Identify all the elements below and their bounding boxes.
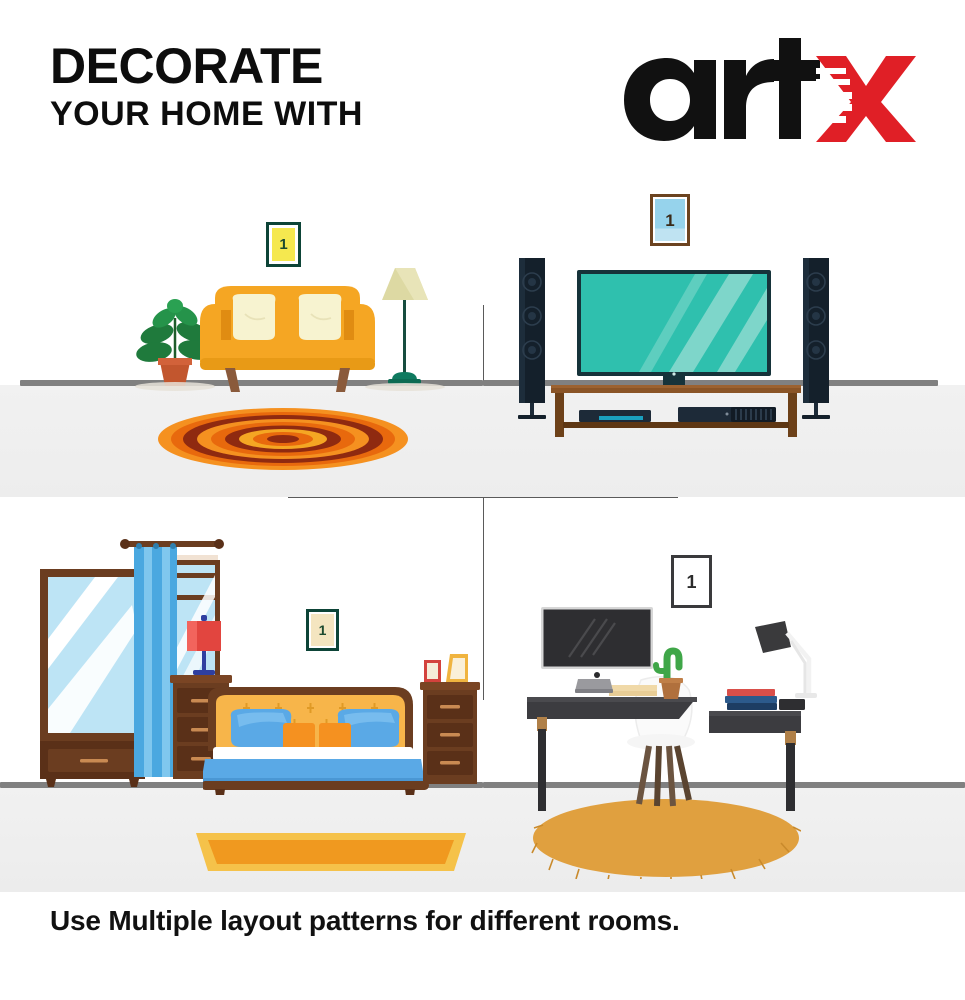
picture-frame-office[interactable]: 1: [671, 555, 712, 608]
frame-mat: 1: [309, 612, 336, 648]
table-lamp-svg: [182, 615, 226, 677]
room-tv-room: 1: [483, 170, 965, 497]
logo-letter-x: [816, 56, 916, 142]
title-line-2: YOUR HOME WITH: [50, 94, 363, 134]
header: DECORATE YOUR HOME WITH: [0, 0, 965, 170]
frame-number: 1: [279, 237, 287, 252]
speaker-left: [516, 258, 548, 421]
frame-number: 1: [665, 212, 674, 229]
frame-artwork: 1: [655, 199, 685, 241]
room-living-room: 1: [0, 170, 483, 497]
monitor-svg: [541, 607, 653, 687]
logo-letter-a: [624, 58, 716, 141]
frame-number: 1: [319, 623, 327, 637]
monitor: [541, 607, 653, 687]
cactus-plant: [651, 645, 687, 700]
area-rug-bedroom: [196, 827, 466, 875]
side-table: [709, 687, 809, 812]
frame-mat: 1: [269, 225, 298, 264]
picture-frame-bedroom[interactable]: 1: [306, 609, 339, 651]
tv-svg: [577, 270, 771, 392]
side-table-svg: [709, 687, 809, 812]
keyboard-svg: [575, 679, 613, 693]
picture-frame-living-room[interactable]: 1: [266, 222, 301, 267]
speaker-right-svg: [800, 258, 832, 421]
tv-stand-svg: [551, 385, 801, 440]
speaker-left-svg: [516, 258, 548, 421]
caption-text: Use Multiple layout patterns for differe…: [50, 905, 930, 937]
tv-stand: [551, 385, 801, 440]
frame-mat: 1: [674, 558, 709, 605]
keyboard: [575, 679, 613, 693]
logo-letter-r: [724, 59, 774, 139]
bedroom-rug-svg: [196, 827, 466, 875]
nightstand-right-svg: [420, 682, 480, 790]
frame-artwork: 1: [676, 560, 707, 603]
sofa: [195, 280, 380, 395]
desk-svg: [527, 685, 702, 813]
tv-screen: [577, 270, 771, 392]
room-bedroom: 1: [0, 497, 483, 892]
table-lamp: [182, 615, 226, 677]
floor-lamp: [370, 258, 440, 390]
page-title: DECORATE YOUR HOME WITH: [50, 40, 363, 134]
frame-artwork: 1: [272, 228, 295, 261]
frame-mat: 1: [653, 197, 687, 243]
title-line-1: DECORATE: [50, 40, 363, 92]
bed: [203, 685, 448, 795]
frame-artwork: 1: [311, 614, 334, 646]
logo-letter-t: [767, 38, 820, 139]
brand-logo: [620, 38, 920, 143]
floor-lamp-svg: [370, 258, 440, 390]
round-rug-living-room: [158, 408, 408, 470]
rug-svg: [158, 408, 408, 470]
photo-frames-svg: [424, 652, 476, 684]
frame-number: 1: [686, 573, 696, 591]
bed-svg: [203, 685, 448, 795]
poster-canvas: DECORATE YOUR HOME WITH: [0, 0, 965, 1000]
cactus-svg: [651, 645, 687, 700]
logo-svg: [620, 38, 920, 143]
lamp-shadow: [365, 383, 445, 391]
photo-frames-on-nightstand: [424, 652, 476, 684]
speaker-right: [800, 258, 832, 421]
desk: [527, 685, 702, 813]
nightstand-right: [420, 682, 480, 790]
sofa-svg: [195, 280, 380, 395]
desk-lamp: [747, 619, 819, 705]
room-office: 1: [483, 497, 965, 892]
picture-frame-tv-room[interactable]: 1: [650, 194, 690, 246]
desk-lamp-svg: [747, 619, 819, 705]
